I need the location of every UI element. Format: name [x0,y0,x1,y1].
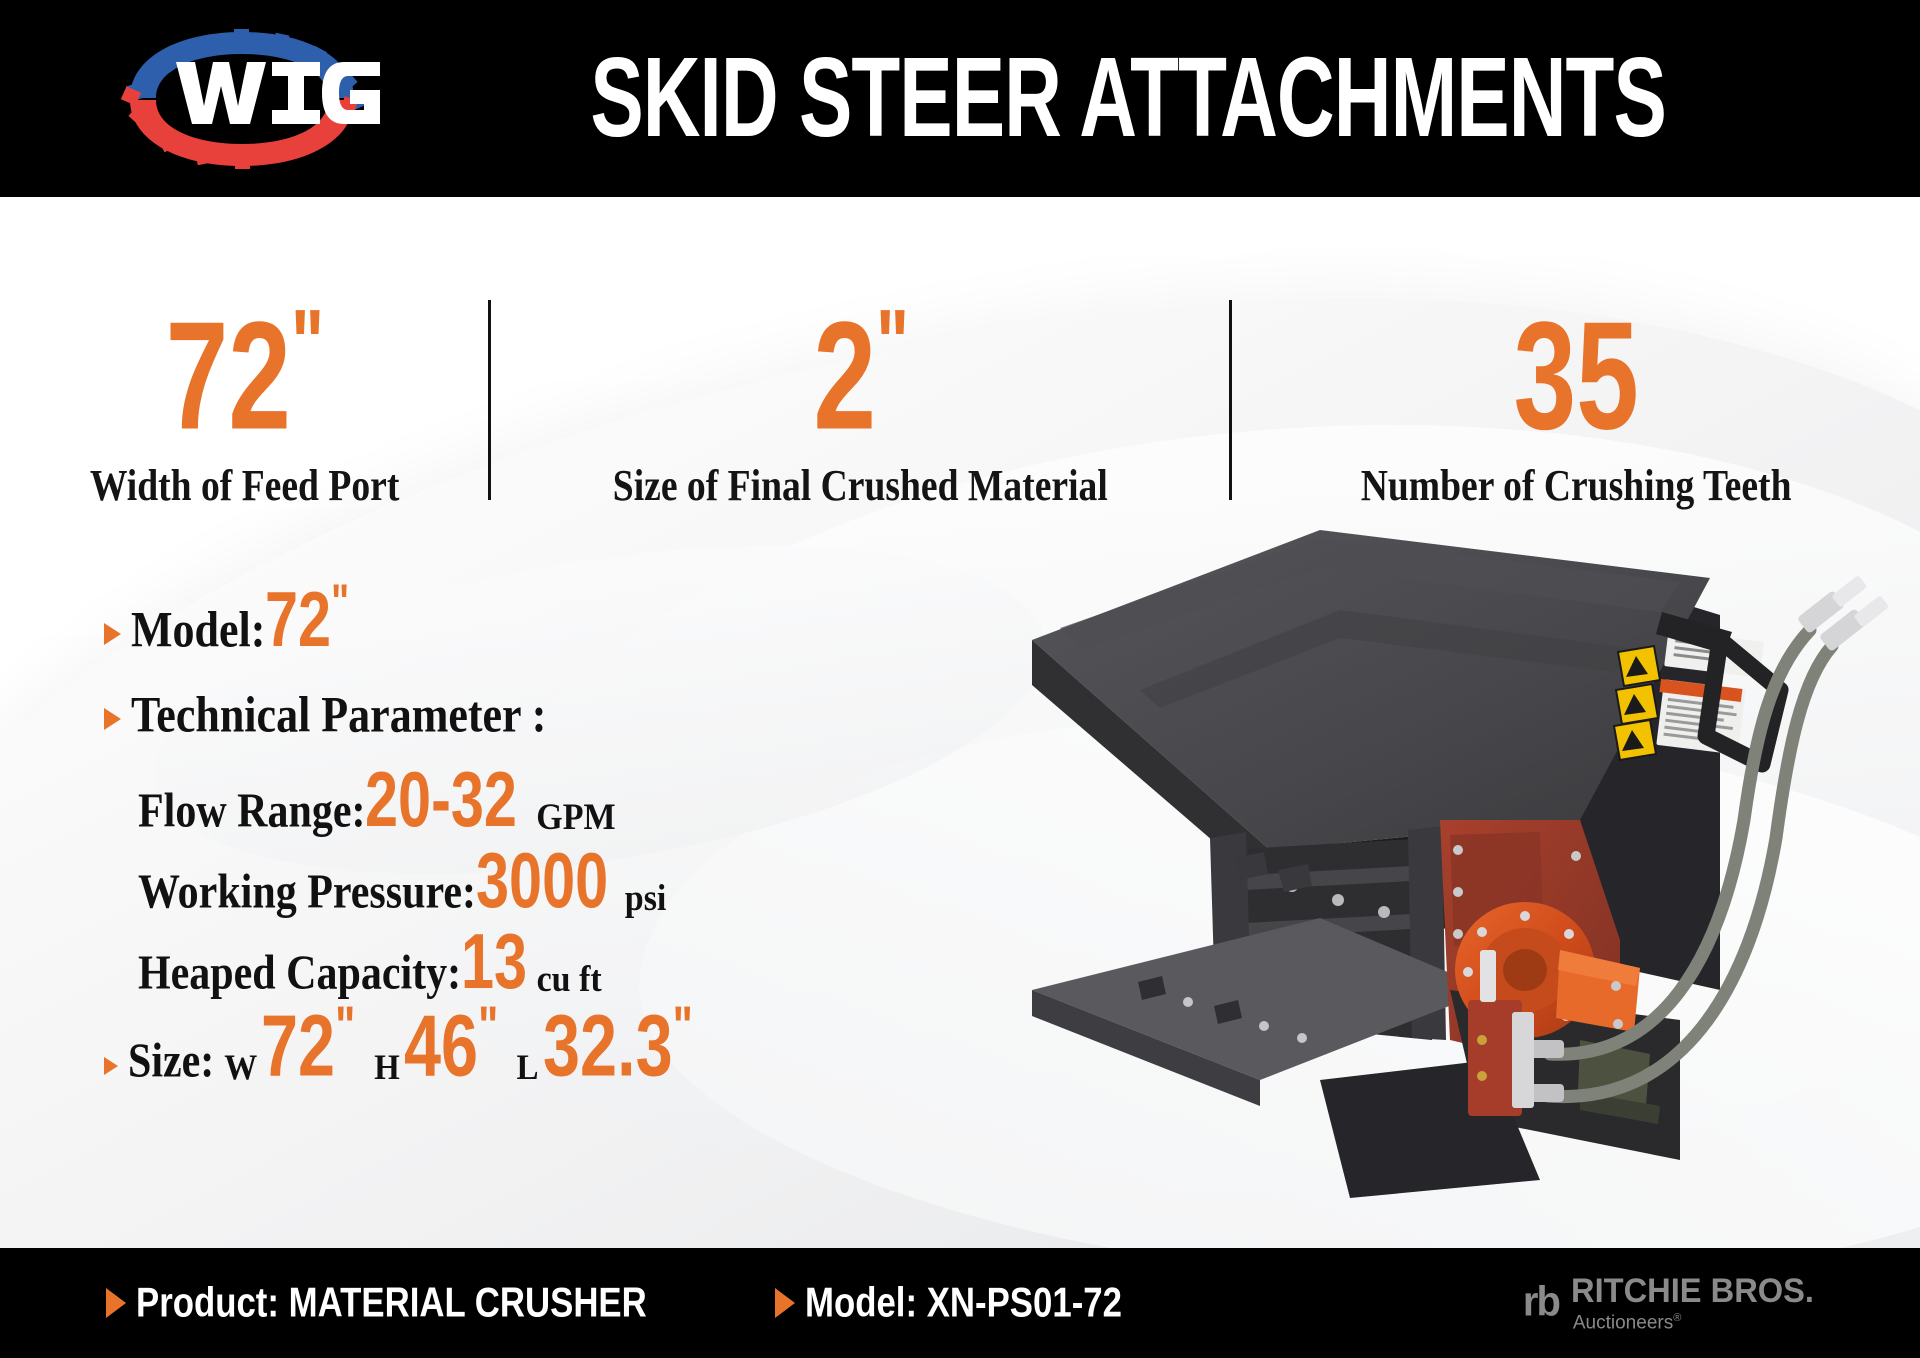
stat-value: 2" [813,296,907,454]
spec-row-heaped-capacity: Heaped Capacity: 13 cu ft [138,934,1024,1001]
page-title: SKID STEER ATTACHMENTS [445,33,1866,164]
size-axis-label: H [374,1048,400,1089]
triangle-bullet-icon [104,708,121,730]
product-image-material-crusher [1020,520,1890,1210]
stat-width-of-feed-port: 72" Width of Feed Port [0,322,488,508]
size-value-height: 46" [404,999,497,1089]
triangle-bullet-icon [106,1288,126,1318]
stat-label: Number of Crushing Teeth [1361,463,1792,508]
spec-unit: psi [625,878,667,920]
size-value-width: 72" [261,999,354,1089]
material-crusher-illustration [1020,520,1890,1210]
rb-brand-sub: Auctioneers® [1573,1313,1681,1332]
wig-logo [92,14,392,184]
spec-key: Technical Parameter : [131,685,546,744]
triangle-bullet-icon [775,1288,795,1318]
spec-row-technical-parameter: Technical Parameter : [104,693,1024,744]
spec-value: 13 [461,922,527,1000]
spec-unit: cu ft [537,959,602,1001]
ritchie-bros-logo: rb RITCHIE BROS. Auctioneers® [1523,1274,1824,1332]
warning-triangle-icon [1616,684,1658,724]
triangle-bullet-icon [104,1057,118,1075]
spec-row-working-pressure: Working Pressure: 3000 psi [138,853,1024,920]
spec-key: Heaped Capacity: [138,946,461,1001]
wig-logo-icon [92,14,392,184]
spec-value: 20-32 [365,760,517,838]
stat-number-of-crushing-teeth: 35 Number of Crushing Teeth [1232,322,1920,508]
product-spec-sheet: SKID STEER ATTACHMENTS 72" Width of Feed… [0,0,1920,1358]
spec-value: 3000 [476,841,608,919]
spec-value: 72" [265,578,347,658]
spec-row-model: Model: 72" [104,590,1024,659]
spec-unit: GPM [536,797,615,839]
spec-key: Model: [131,600,265,659]
triangle-bullet-icon [104,623,121,645]
spec-key: Working Pressure: [138,865,476,920]
specification-list: Model: 72" Technical Parameter : Flow Ra… [104,590,1024,1090]
rb-monogram: rb [1523,1279,1559,1326]
header-bar: SKID STEER ATTACHMENTS [0,0,1920,197]
footer-product: Product: MATERIAL CRUSHER [106,1282,679,1324]
stat-value: 35 [1513,296,1638,454]
spec-row-flow-range: Flow Range: 20-32 GPM [138,772,1024,839]
spec-key: Flow Range: [138,784,365,839]
footer-model-label: Model: XN-PS01-72 [805,1279,1122,1326]
footer-product-label: Product: MATERIAL CRUSHER [136,1279,647,1326]
size-axis-label: L [517,1048,539,1089]
key-specs-row: 72" Width of Feed Port 2" Size of Final … [0,238,1920,508]
spec-row-size: Size: W 72" H 46" L 32.3" [104,1013,1024,1090]
footer-model: Model: XN-PS01-72 [775,1282,1142,1324]
size-value-length: 32.3" [543,999,691,1089]
stat-value: 72" [166,296,323,454]
warning-triangle-icon [1618,646,1660,686]
size-axis-label: W [224,1048,257,1089]
footer-bar: Product: MATERIAL CRUSHER Model: XN-PS01… [0,1248,1920,1358]
warning-triangle-icon [1614,720,1656,760]
rb-brand-name: RITCHIE BROS. [1571,1274,1814,1308]
stat-label: Size of Final Crushed Material [613,463,1108,508]
stat-label: Width of Feed Port [90,463,399,508]
spec-key: Size: [128,1033,214,1088]
stat-size-of-final-crushed-material: 2" Size of Final Crushed Material [491,322,1229,508]
